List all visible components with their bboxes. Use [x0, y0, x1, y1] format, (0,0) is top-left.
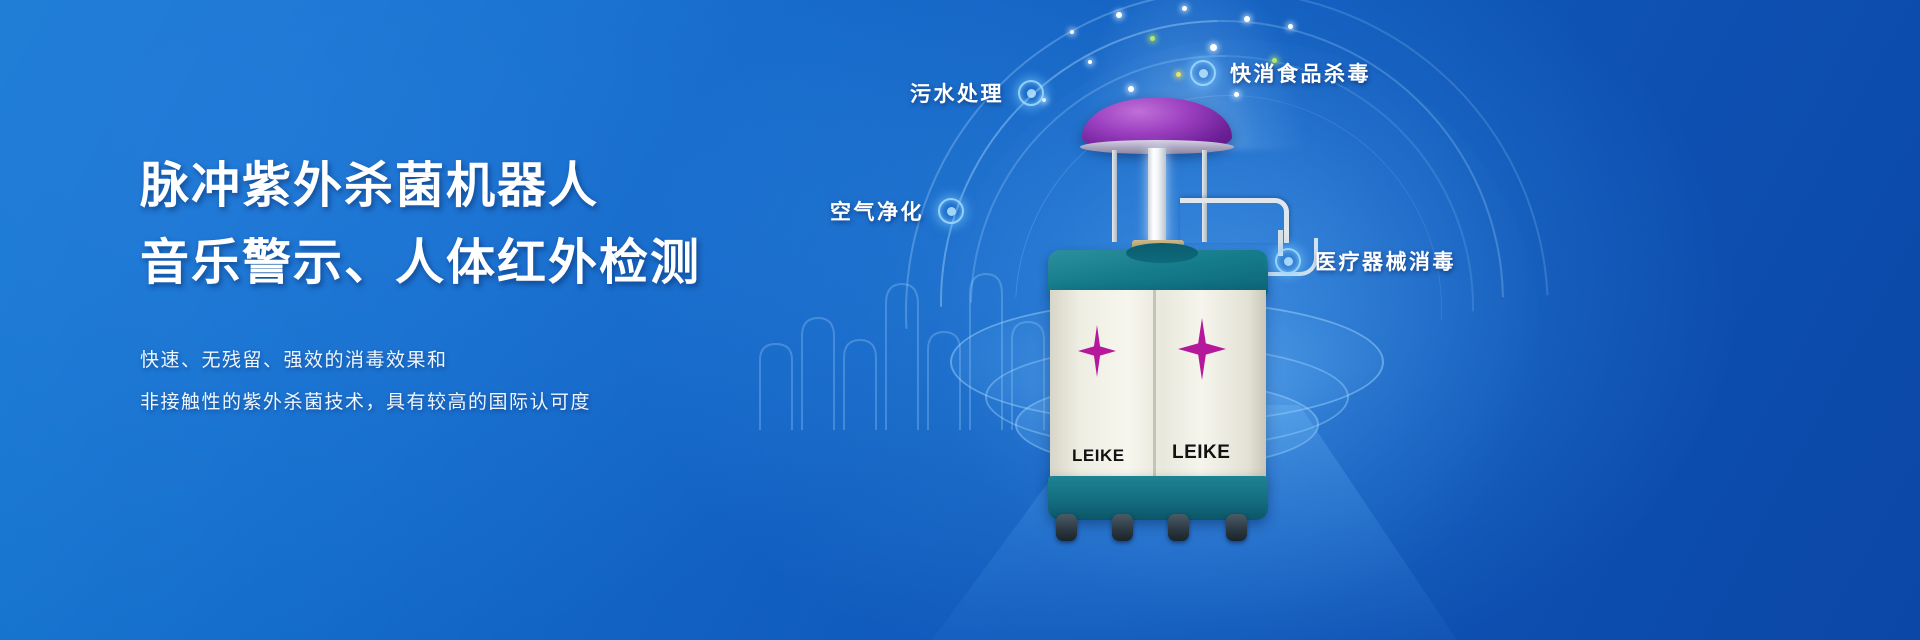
- sparkle-dot: [1116, 12, 1122, 18]
- node-ring-icon: [1275, 248, 1301, 274]
- feature-label-air[interactable]: 空气净化: [830, 196, 964, 226]
- sparkle-dot: [1176, 72, 1181, 77]
- sparkle-dot: [1182, 6, 1187, 11]
- description-line-2: 非接触性的紫外杀菌技术，具有较高的国际认可度: [140, 381, 840, 423]
- feature-label-text: 医疗器械消毒: [1315, 246, 1456, 276]
- feature-label-text: 污水处理: [910, 78, 1004, 108]
- lamp-support-rod: [1112, 150, 1117, 242]
- description-line-1: 快速、无残留、强效的消毒效果和: [140, 339, 840, 381]
- robot-wheel: [1226, 514, 1247, 541]
- promo-banner: 脉冲紫外杀菌机器人 音乐警示、人体红外检测 快速、无残留、强效的消毒效果和 非接…: [0, 0, 1920, 640]
- node-ring-icon: [1190, 60, 1216, 86]
- robot-wheel: [1168, 514, 1189, 541]
- uv-lamp-tube: [1148, 148, 1166, 244]
- feature-label-wastewater[interactable]: 污水处理: [910, 78, 1044, 108]
- feature-label-food[interactable]: 快消食品杀毒: [1190, 58, 1371, 88]
- headline-line-2: 音乐警示、人体红外检测: [140, 227, 840, 297]
- headline-block: 脉冲紫外杀菌机器人 音乐警示、人体红外检测 快速、无残留、强效的消毒效果和 非接…: [140, 150, 840, 423]
- uv-disinfection-robot: LEIKE LEIKE: [1020, 90, 1310, 510]
- node-ring-icon: [1018, 80, 1044, 106]
- sparkle-dot: [1088, 60, 1092, 64]
- robot-wheel: [1112, 514, 1133, 541]
- brand-text-left: LEIKE: [1072, 446, 1125, 466]
- robot-wheel: [1056, 514, 1077, 541]
- product-scene: LEIKE LEIKE 污水处理 空气净化 快消食品杀毒 医疗器械消毒: [820, 0, 1920, 640]
- brand-text-right: LEIKE: [1172, 442, 1230, 464]
- sparkle-dot: [1244, 16, 1250, 22]
- robot-body-seam: [1153, 290, 1156, 482]
- sparkle-dot: [1150, 36, 1155, 41]
- feature-label-medical[interactable]: 医疗器械消毒: [1275, 246, 1456, 276]
- description-block: 快速、无残留、强效的消毒效果和 非接触性的紫外杀菌技术，具有较高的国际认可度: [140, 339, 840, 423]
- sparkle-dot: [1070, 30, 1074, 34]
- feature-label-text: 快消食品杀毒: [1230, 58, 1371, 88]
- sparkle-dot: [1288, 24, 1293, 29]
- feature-label-text: 空气净化: [830, 196, 924, 226]
- sparkle-dot: [1210, 44, 1217, 51]
- node-ring-icon: [938, 198, 964, 224]
- headline-line-1: 脉冲紫外杀菌机器人: [140, 150, 840, 220]
- push-handle: [1180, 198, 1289, 243]
